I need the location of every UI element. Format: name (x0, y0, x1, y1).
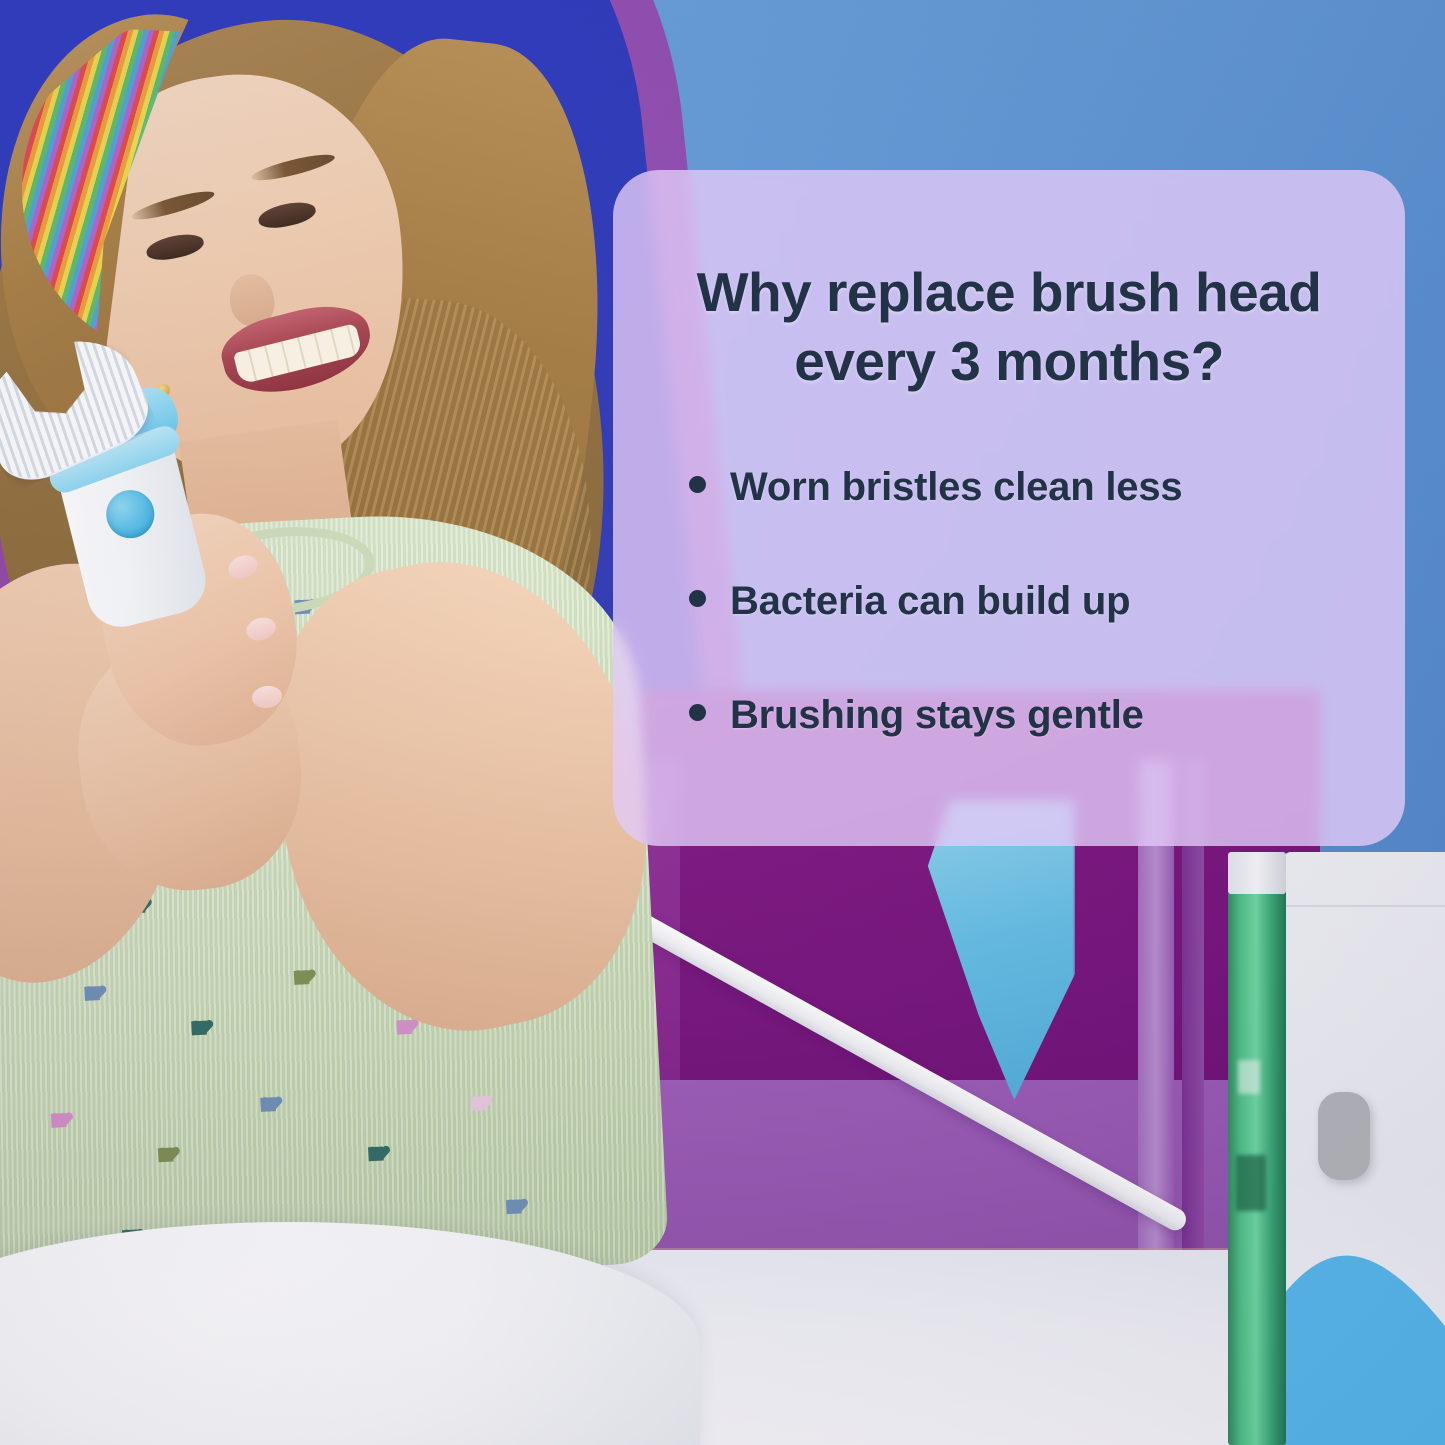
list-item: Worn bristles clean less (689, 463, 1347, 511)
benefit-list: Worn bristles clean less Bacteria can bu… (689, 463, 1347, 739)
list-item: Bacteria can build up (689, 577, 1347, 625)
toothpaste-label-text-block (1236, 1155, 1266, 1211)
bullet-text: Brushing stays gentle (730, 691, 1144, 739)
bullet-text: Worn bristles clean less (730, 463, 1182, 511)
list-item: Brushing stays gentle (689, 691, 1347, 739)
info-card: Why replace brush head every 3 months? W… (613, 170, 1405, 846)
bullet-dot-icon (689, 590, 706, 607)
toothpaste-cap (1228, 852, 1286, 894)
bullet-text: Bacteria can build up (730, 577, 1130, 625)
bullet-dot-icon (689, 476, 706, 493)
bullet-dot-icon (689, 704, 706, 721)
infographic-canvas: Why replace brush head every 3 months? W… (0, 0, 1445, 1445)
toothpaste-label-highlight (1238, 1060, 1260, 1094)
box-seam-line (1283, 905, 1445, 907)
green-toothpaste-tube (1228, 855, 1286, 1445)
box-gray-button (1318, 1092, 1370, 1180)
card-heading: Why replace brush head every 3 months? (671, 258, 1347, 397)
